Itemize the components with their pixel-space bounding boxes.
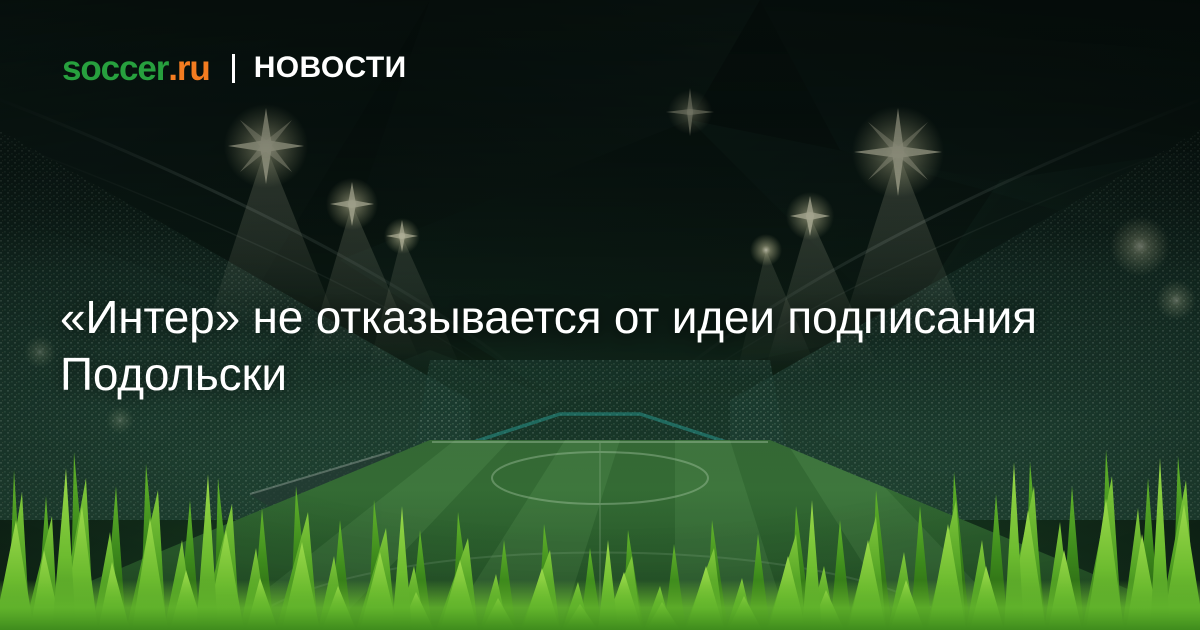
news-share-card: soccer .ru НОВОСТИ «Интер» не отказывает… (0, 0, 1200, 630)
page-title: «Интер» не отказывается от идеи подписан… (60, 289, 1040, 403)
logo-word-soccer: soccer (62, 51, 168, 86)
section-label-news: НОВОСТИ (254, 53, 407, 83)
site-logo[interactable]: soccer .ru НОВОСТИ (62, 47, 407, 89)
logo-word-ru: .ru (168, 51, 209, 86)
logo-separator-icon (232, 54, 235, 83)
